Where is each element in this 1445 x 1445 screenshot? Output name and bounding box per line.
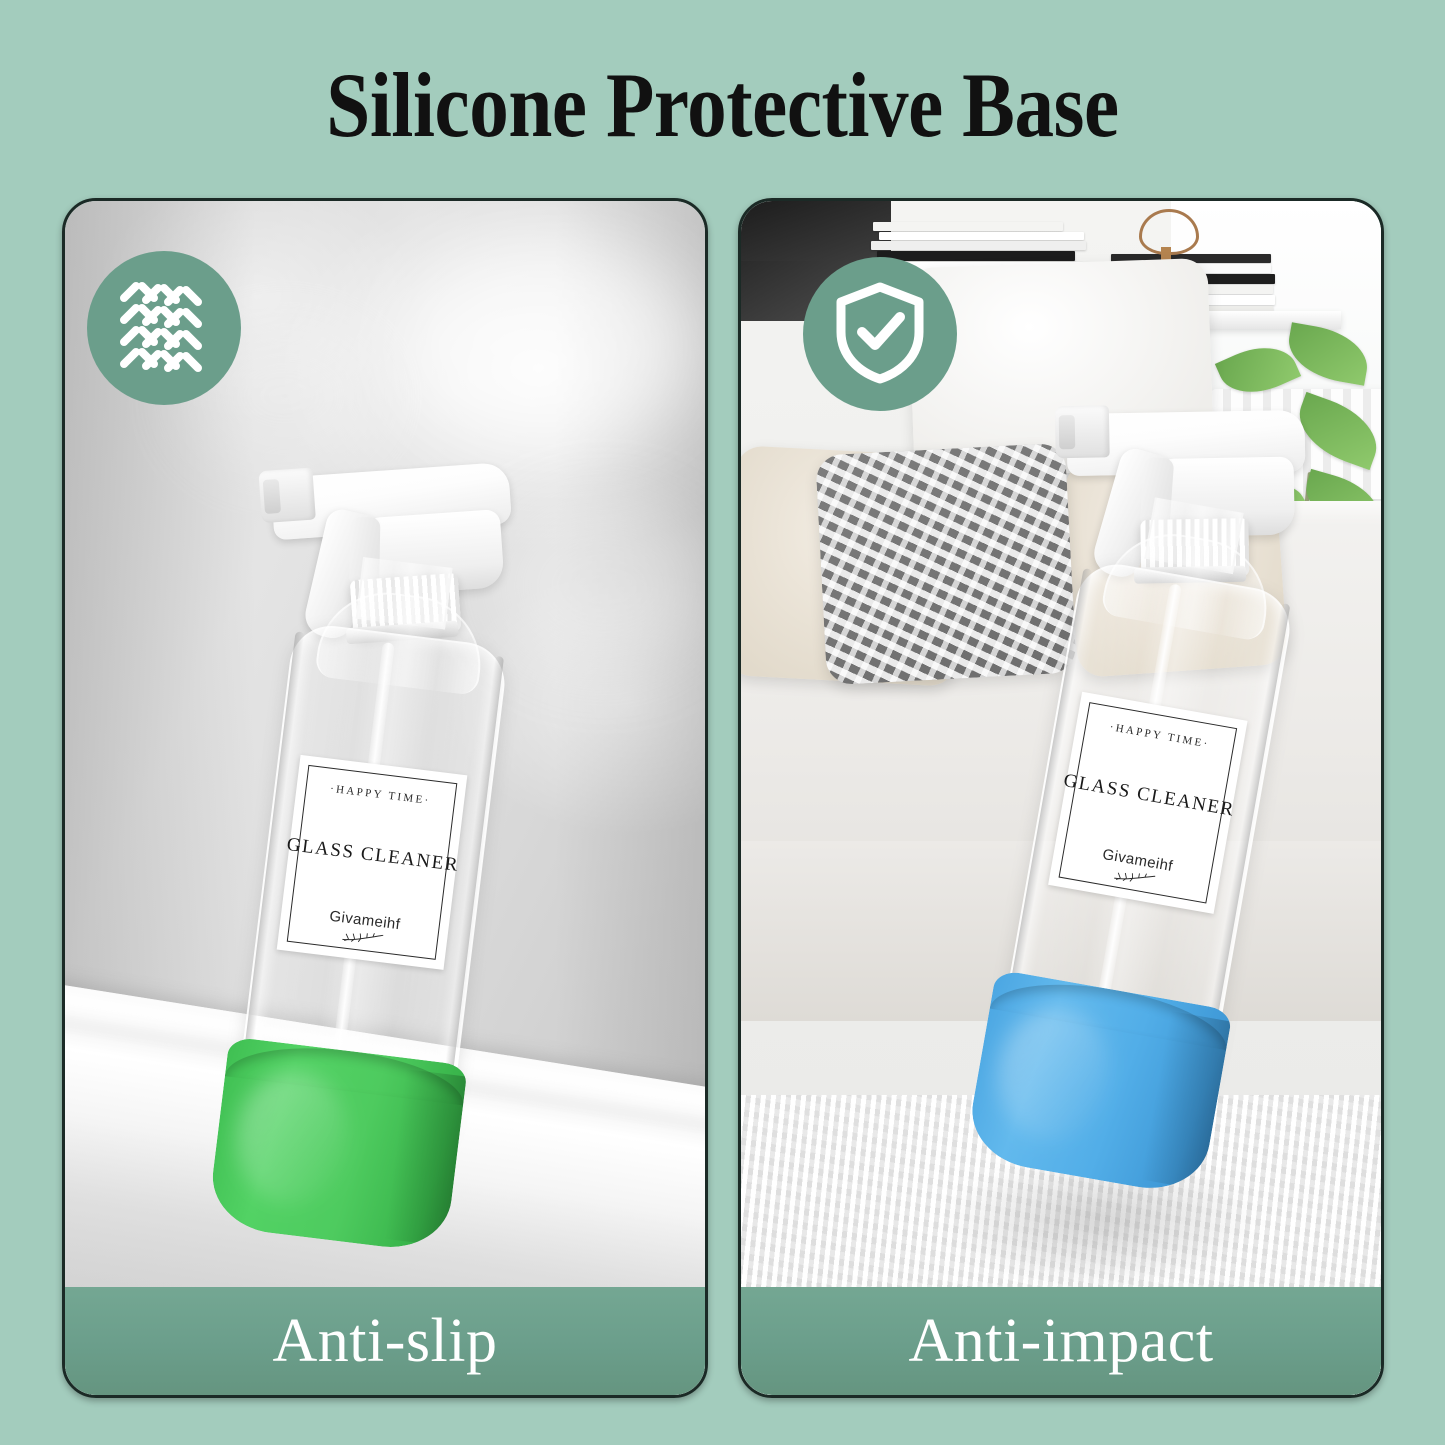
panel-anti-slip: ·HAPPY TIME· GLASS CLEANER Givameihf <box>62 198 708 1398</box>
scene-living-room: ·HAPPY TIME· GLASS CLEANER Givameihf <box>741 201 1381 1395</box>
shield-check-icon <box>831 280 929 389</box>
caption-bar-anti-impact: Anti-impact <box>741 1287 1381 1395</box>
badge-anti-impact <box>803 257 957 411</box>
badge-anti-slip <box>87 251 241 405</box>
book <box>873 222 1063 231</box>
book <box>871 241 1086 250</box>
sprayer-nozzle-face <box>1059 415 1076 449</box>
caption-bar-anti-slip: Anti-slip <box>65 1287 705 1395</box>
label-tagline: ·HAPPY TIME· <box>1109 721 1211 750</box>
scene-bathroom: ·HAPPY TIME· GLASS CLEANER Givameihf <box>65 201 705 1395</box>
label-tagline: ·HAPPY TIME· <box>329 783 431 807</box>
book <box>879 232 1084 240</box>
bottle-label: ·HAPPY TIME· GLASS CLEANER Givameihf <box>277 755 468 970</box>
wall-light-blob <box>395 241 695 451</box>
panel-anti-impact: ·HAPPY TIME· GLASS CLEANER Givameihf <box>738 198 1384 1398</box>
bottle-label: ·HAPPY TIME· GLASS CLEANER Givameihf <box>1048 692 1247 914</box>
infographic-root: Silicone Protective Base <box>0 0 1445 1445</box>
label-product-name: GLASS CLEANER <box>1062 770 1237 822</box>
page-title: Silicone Protective Base <box>101 52 1344 158</box>
label-sprig-icon <box>337 927 387 954</box>
caption-label: Anti-impact <box>908 1310 1213 1372</box>
caption-label: Anti-slip <box>273 1310 498 1372</box>
book <box>877 251 1075 261</box>
sprayer-nozzle-face <box>263 479 281 514</box>
anti-slip-tread-icon <box>116 280 212 377</box>
silicone-base-green <box>207 1036 468 1254</box>
label-product-name: GLASS CLEANER <box>286 834 461 877</box>
